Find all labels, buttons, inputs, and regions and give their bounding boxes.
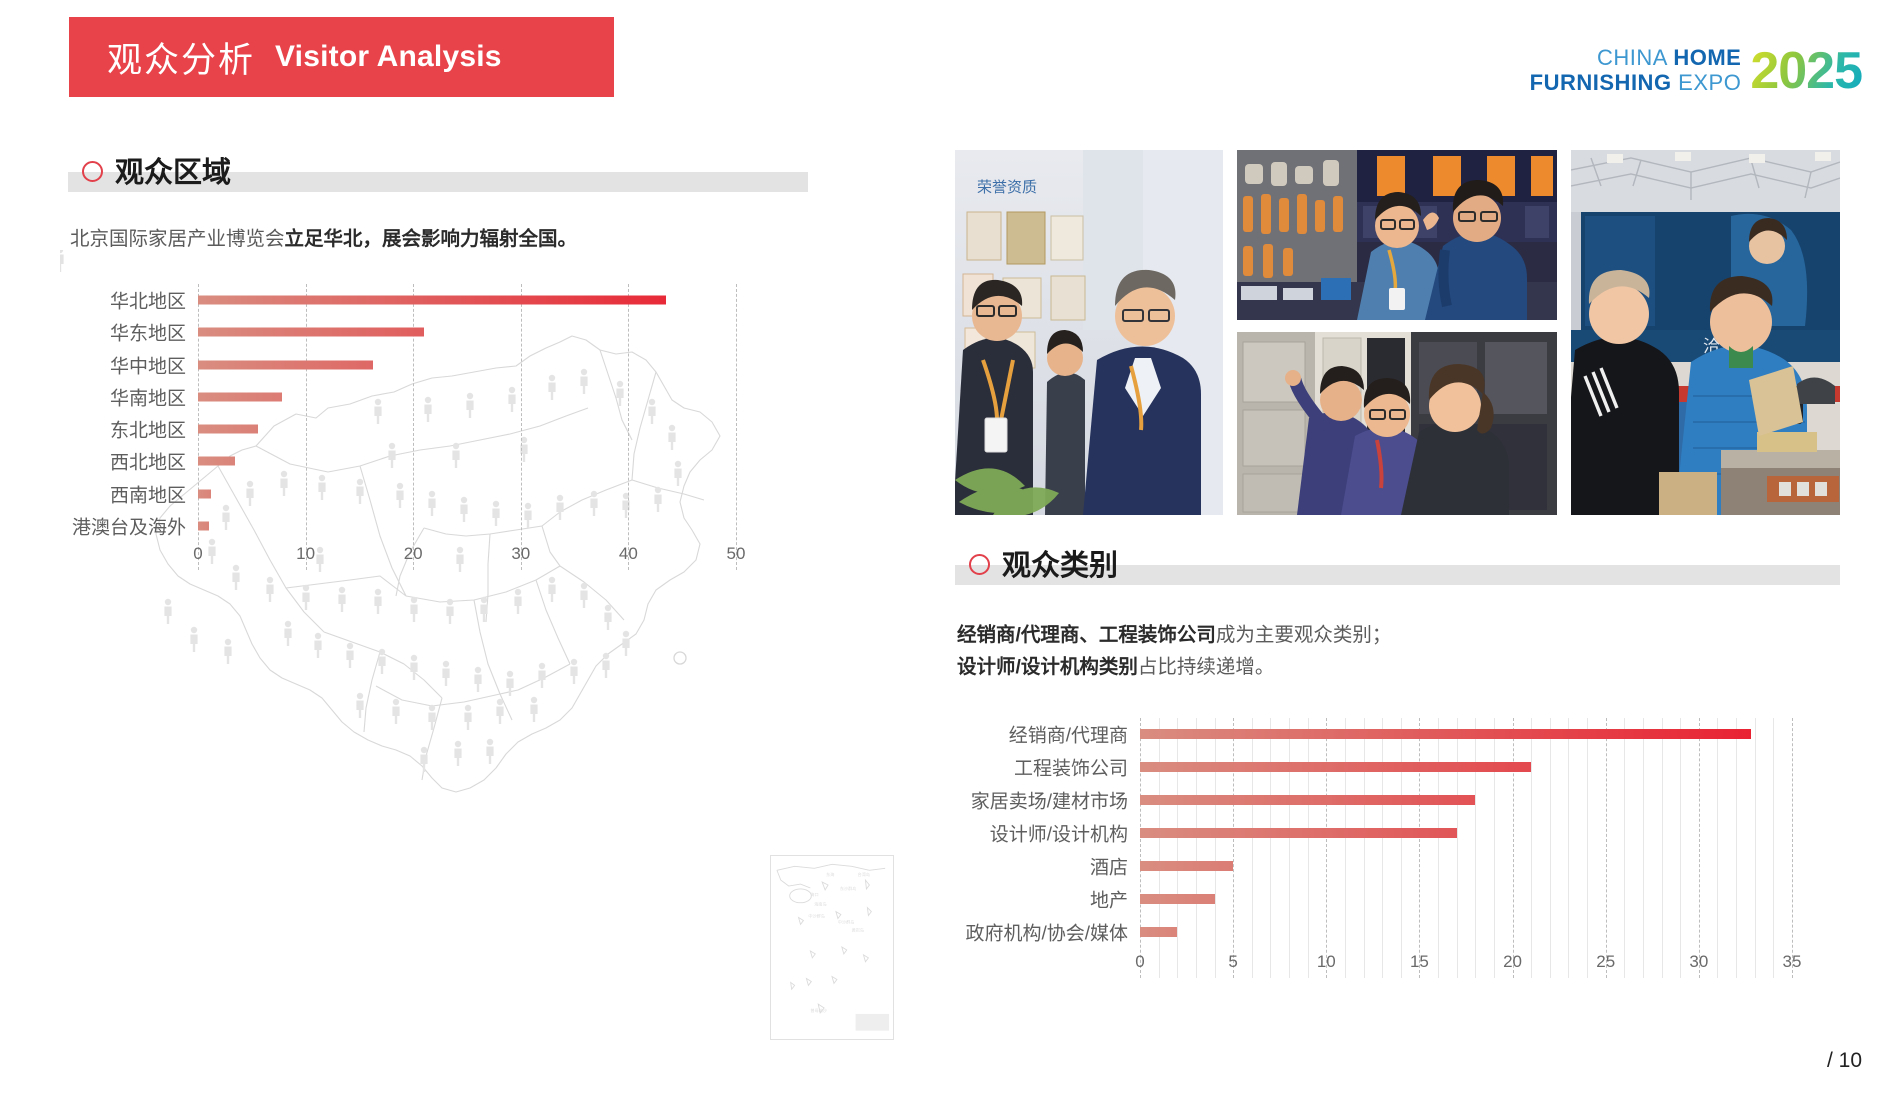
lede-cat-plain-1: 成为主要观众类别； <box>1216 624 1392 646</box>
gridline-major <box>1419 718 1420 978</box>
gridline-minor <box>1196 718 1197 978</box>
south-china-sea-inset-map: 东海台湾岛 海口海南岛 东沙群岛 中沙群岛中沙群岛 黄岩岛 曾母暗沙 <box>770 855 894 1040</box>
section-visitor-region: 观众区域 <box>68 152 808 194</box>
chart-bar <box>198 489 211 498</box>
photo-gallery: 荣誉资质 <box>955 150 1840 515</box>
gridline-major <box>1326 718 1327 978</box>
gridline-major <box>1233 718 1234 978</box>
chart-category-label: 家居卖场/建材市场 <box>971 787 1128 814</box>
gridline-major <box>1140 718 1141 978</box>
gridline-minor <box>1159 718 1160 978</box>
section-header-category: 观众类别 <box>955 545 1840 587</box>
svg-text:海南岛: 海南岛 <box>814 901 826 907</box>
svg-text:荣誉资质: 荣誉资质 <box>977 178 1037 196</box>
chart-category-label: 设计师/设计机构 <box>990 820 1128 847</box>
logo-year: 2025 <box>1750 47 1862 96</box>
gridline-minor <box>1736 718 1737 978</box>
gridline-minor <box>1550 718 1551 978</box>
logo-expo-text: EXPO <box>1678 70 1741 95</box>
gridline-minor <box>1382 718 1383 978</box>
chart-bar <box>1140 729 1751 739</box>
section-title-category: 观众类别 <box>1002 545 1840 587</box>
gridline-minor <box>1252 718 1253 978</box>
chart-category-label: 工程装饰公司 <box>1014 754 1128 781</box>
chart-bar <box>1140 927 1177 937</box>
gridline-major <box>1513 718 1514 978</box>
gridline-minor <box>1177 718 1178 978</box>
chart-bar <box>198 457 235 466</box>
gridline-major <box>1606 718 1607 978</box>
chart-region-plot-area: 华北地区华东地区华中地区华南地区东北地区西北地区西南地区港澳台及海外010203… <box>68 278 808 578</box>
gridline-minor <box>1457 718 1458 978</box>
svg-text:东海: 东海 <box>826 871 834 877</box>
slide-page: 观众分析 Visitor Analysis CHINA HOME FURNISH… <box>0 0 1890 1103</box>
gridline-minor <box>1475 718 1476 978</box>
gridline-minor <box>1717 718 1718 978</box>
page-title-cn: 观众分析 <box>107 32 255 83</box>
lede-region-part-0: 北京国际家居产业博览会 <box>70 228 285 250</box>
gridline-minor <box>1773 718 1774 978</box>
gridline-minor <box>1345 718 1346 978</box>
chart-category-label: 经销商/代理商 <box>1009 721 1128 748</box>
lede-category-line2: 设计师/设计机构类别占比持续递增。 <box>957 652 1274 682</box>
chart-category-plot-area: 经销商/代理商工程装饰公司家居卖场/建材市场设计师/设计机构酒店地产政府机构/协… <box>955 710 1840 990</box>
chart-category-label: 东北地区 <box>110 416 186 443</box>
chart-x-tick: 20 <box>404 544 423 564</box>
chart-x-tick: 35 <box>1783 952 1802 972</box>
chart-category-label: 华北地区 <box>110 287 186 314</box>
chart-x-tick: 15 <box>1410 952 1429 972</box>
page-title-band: 观众分析 Visitor Analysis <box>68 17 614 97</box>
gridline-minor <box>1270 718 1271 978</box>
chart-bar <box>1140 861 1233 871</box>
gridline-major <box>736 284 737 570</box>
gridline-major <box>1792 718 1793 978</box>
gridline-minor <box>1308 718 1309 978</box>
gridline-minor <box>1215 718 1216 978</box>
chart-x-tick: 10 <box>1317 952 1336 972</box>
chart-x-tick: 25 <box>1596 952 1615 972</box>
page-title-en: Visitor Analysis <box>275 40 502 74</box>
chart-x-tick: 30 <box>511 544 530 564</box>
section-header-region: 观众区域 <box>68 152 808 194</box>
gridline-major <box>628 284 629 570</box>
chart-bar <box>1140 762 1531 772</box>
logo-line-2: FURNISHING EXPO <box>1530 72 1742 94</box>
chart-bar <box>1140 828 1457 838</box>
gridline-minor <box>1643 718 1644 978</box>
chart-bar <box>198 521 209 530</box>
chart-x-tick: 0 <box>193 544 202 564</box>
chart-bar <box>198 392 282 401</box>
logo-home-text: HOME <box>1673 45 1741 70</box>
gridline-major <box>521 284 522 570</box>
svg-text:台湾岛: 台湾岛 <box>858 871 870 877</box>
photo-booth-certificates: 荣誉资质 <box>955 150 1223 515</box>
chart-x-tick: 0 <box>1135 952 1144 972</box>
chart-bar <box>198 328 424 337</box>
lede-region-part-1: 立足华北，展会影响力辐射全国。 <box>285 228 578 250</box>
chart-bar <box>198 425 258 434</box>
chart-category-label: 政府机构/协会/媒体 <box>965 918 1128 945</box>
chart-x-tick: 50 <box>727 544 746 564</box>
chart-x-tick: 5 <box>1228 952 1237 972</box>
gridline-minor <box>1587 718 1588 978</box>
chart-x-tick: 10 <box>296 544 315 564</box>
section-title-region: 观众区域 <box>115 152 808 194</box>
gridline-minor <box>1568 718 1569 978</box>
photo-visitors-cabinets <box>1237 332 1557 515</box>
circle-bullet-icon <box>82 161 103 182</box>
gridline-minor <box>1289 718 1290 978</box>
photo-international-visitors: 洽谈区 <box>1571 150 1840 515</box>
lede-cat-bold-2: 设计师/设计机构类别 <box>957 656 1138 678</box>
svg-text:曾母暗沙: 曾母暗沙 <box>810 1007 827 1013</box>
gridline-minor <box>1438 718 1439 978</box>
gridline-minor <box>1624 718 1625 978</box>
gridline-minor <box>1401 718 1402 978</box>
chart-category-label: 华东地区 <box>110 319 186 346</box>
gridline-major <box>1699 718 1700 978</box>
circle-bullet-icon-2 <box>969 554 990 575</box>
chart-category-label: 华南地区 <box>110 383 186 410</box>
chart-bar <box>198 360 373 369</box>
lede-cat-plain-2: 占比持续递增。 <box>1138 656 1275 678</box>
gridline-minor <box>1531 718 1532 978</box>
logo-furnishing-text: FURNISHING <box>1530 70 1679 95</box>
section-visitor-category: 观众类别 <box>955 545 1840 587</box>
svg-text:中沙群岛: 中沙群岛 <box>838 918 855 924</box>
chart-category-label: 地产 <box>1090 885 1128 912</box>
chart-category-label: 港澳台及海外 <box>72 512 186 539</box>
chart-x-tick: 20 <box>1503 952 1522 972</box>
lede-category-line1: 经销商/代理商、工程装饰公司成为主要观众类别； <box>957 620 1391 650</box>
chart-x-tick: 40 <box>619 544 638 564</box>
chart-category-label: 西南地区 <box>110 480 186 507</box>
chart-category-label: 华中地区 <box>110 351 186 378</box>
logo-china-text: CHINA <box>1597 45 1673 70</box>
svg-text:黄岩岛: 黄岩岛 <box>852 926 864 932</box>
gridline-minor <box>1680 718 1681 978</box>
gridline-minor <box>1662 718 1663 978</box>
chart-visitor-category: 经销商/代理商工程装饰公司家居卖场/建材市场设计师/设计机构酒店地产政府机构/协… <box>955 710 1840 990</box>
svg-text:中沙群岛: 中沙群岛 <box>808 912 825 918</box>
gridline-minor <box>1364 718 1365 978</box>
svg-text:东沙群岛: 东沙群岛 <box>840 885 857 891</box>
chart-x-tick: 30 <box>1689 952 1708 972</box>
page-number: / 10 <box>1827 1049 1862 1073</box>
chart-category-label: 酒店 <box>1090 852 1128 879</box>
chart-bar <box>1140 795 1475 805</box>
gridline-minor <box>1494 718 1495 978</box>
lede-cat-bold-1: 经销商/代理商、工程装饰公司 <box>957 624 1216 646</box>
expo-logo: CHINA HOME FURNISHING EXPO 2025 <box>1530 34 1862 96</box>
gridline-minor <box>1755 718 1756 978</box>
chart-bar <box>1140 894 1215 904</box>
chart-visitor-region: 华北地区华东地区华中地区华南地区东北地区西北地区西南地区港澳台及海外010203… <box>68 278 808 578</box>
chart-category-label: 西北地区 <box>110 448 186 475</box>
svg-text:海口: 海口 <box>810 891 818 897</box>
logo-wordmark: CHINA HOME FURNISHING EXPO <box>1530 47 1742 96</box>
photo-hardware-display <box>1237 150 1557 320</box>
logo-line-1: CHINA HOME <box>1597 47 1741 69</box>
chart-bar <box>198 296 666 305</box>
